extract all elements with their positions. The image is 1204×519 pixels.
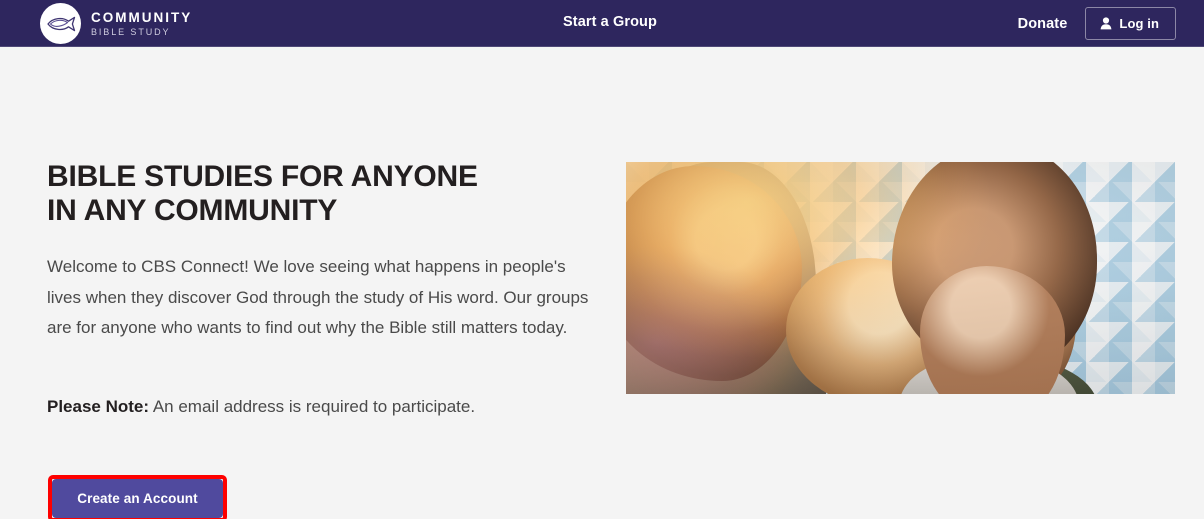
brand-line-community: COMMUNITY [91, 11, 192, 25]
fish-ichthys-icon [40, 3, 81, 44]
page-body: BIBLE STUDIES FOR ANYONE IN ANY COMMUNIT… [0, 47, 1204, 519]
page-title-line-1: BIBLE STUDIES FOR ANYONE [47, 160, 478, 193]
login-button[interactable]: Log in [1085, 7, 1176, 40]
site-header: COMMUNITY BIBLE STUDY Start a Group Dona… [0, 0, 1204, 47]
login-button-label: Log in [1119, 16, 1159, 31]
brand-wordmark: COMMUNITY BIBLE STUDY [91, 10, 192, 38]
nav-start-a-group[interactable]: Start a Group [563, 14, 657, 30]
create-account-button[interactable]: Create an Account [52, 479, 223, 518]
hero-image [626, 162, 1175, 394]
hero-sun-flare [626, 162, 1175, 394]
page-title: BIBLE STUDIES FOR ANYONE IN ANY COMMUNIT… [47, 160, 567, 228]
user-person-icon [1100, 17, 1112, 30]
header-actions: Donate Log in [1018, 0, 1176, 47]
create-account-highlight-box: Create an Account [48, 475, 227, 519]
hero-text-column: BIBLE STUDIES FOR ANYONE IN ANY COMMUNIT… [47, 160, 607, 419]
page-title-line-2: IN ANY COMMUNITY [47, 194, 337, 227]
please-note-text: Please Note: An email address is require… [47, 395, 607, 419]
please-note-body: An email address is required to particip… [149, 397, 475, 416]
please-note-label: Please Note: [47, 397, 149, 416]
brand-line-bible-study: BIBLE STUDY [91, 28, 192, 37]
nav-donate[interactable]: Donate [1018, 16, 1068, 32]
intro-paragraph: Welcome to CBS Connect! We love seeing w… [47, 252, 592, 344]
brand-logo-link[interactable]: COMMUNITY BIBLE STUDY [40, 3, 192, 44]
